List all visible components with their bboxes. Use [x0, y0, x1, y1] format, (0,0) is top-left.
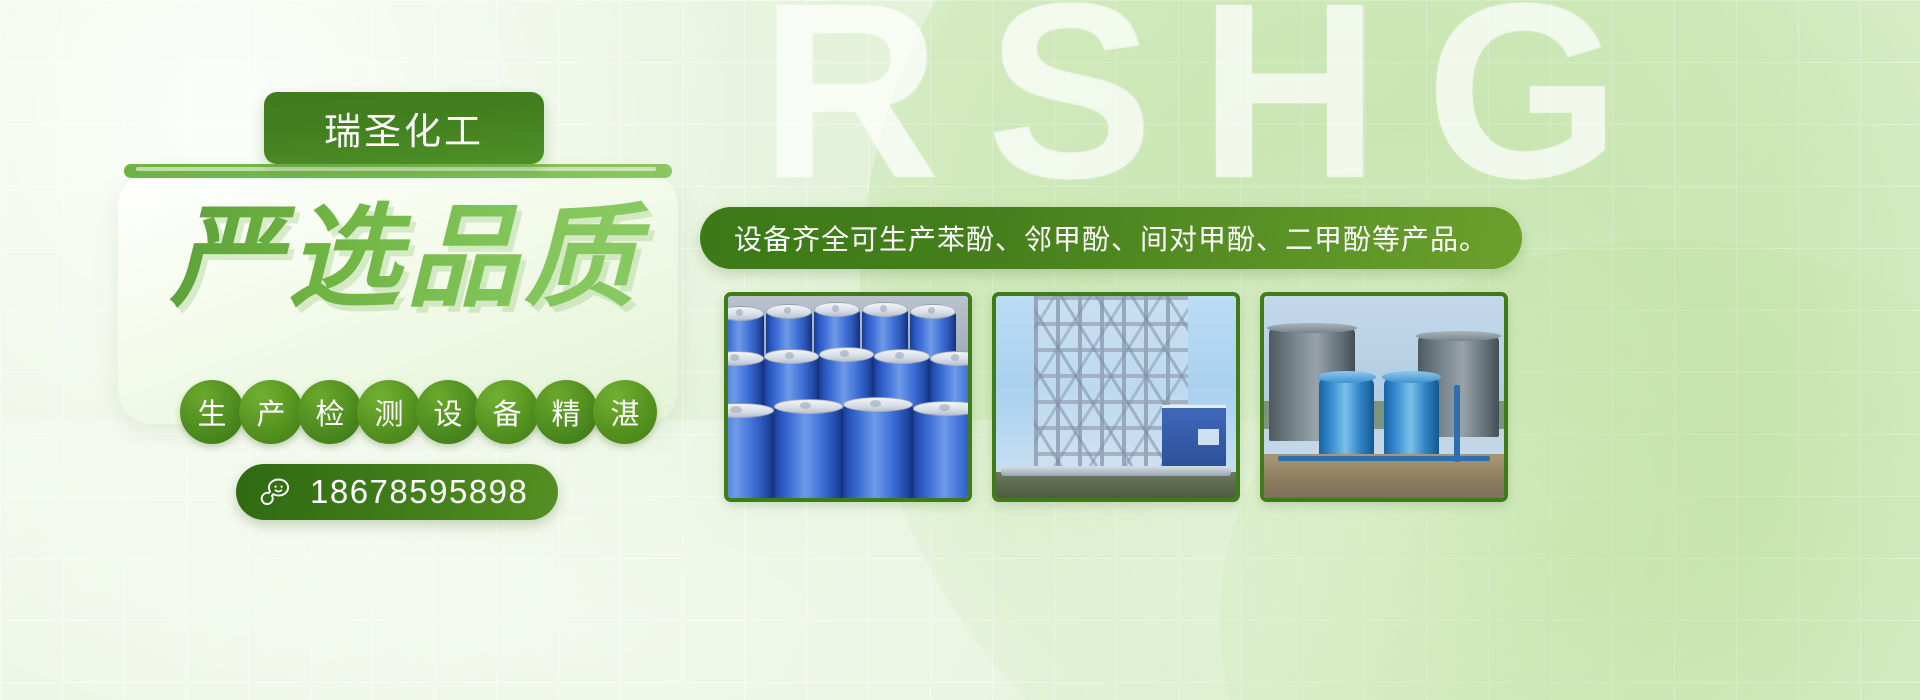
subtitle-char: 精 — [534, 380, 598, 444]
phone-number-label: 18678595898 — [310, 473, 528, 511]
drum-shape — [913, 407, 968, 498]
brand-name-label: 瑞圣化工 — [324, 101, 484, 155]
photo-content — [1264, 296, 1504, 498]
subtitle-char: 生 — [180, 380, 244, 444]
steel-production-tower-photo[interactable] — [992, 292, 1240, 502]
phone-contact-button[interactable]: 18678595898 — [236, 464, 558, 520]
headline-card-top-bar-shine — [136, 167, 656, 171]
storage-tanks-photo[interactable] — [1260, 292, 1508, 502]
subtitle-char: 产 — [239, 380, 303, 444]
left-content-block: 瑞圣化工 严选品质 生 产 检 测 设 备 精 湛 18678595898 — [118, 92, 696, 512]
headline-main-text: 严选品质 — [170, 200, 710, 316]
product-tagline-pill: 设备齐全可生产苯酚、邻甲酚、间对甲酚、二甲酚等产品。 — [700, 207, 1522, 269]
building-window — [1198, 429, 1220, 445]
drum-shape — [843, 403, 913, 498]
brand-watermark-text: RSHG — [760, 0, 1666, 216]
photo-content — [996, 296, 1236, 498]
headline-subtitle-circles: 生 产 检 测 设 备 精 湛 — [180, 380, 652, 444]
promo-banner: RSHG 瑞圣化工 严选品质 生 产 检 测 设 备 精 湛 186 — [0, 0, 1920, 700]
subtitle-char: 湛 — [593, 380, 657, 444]
product-photo-gallery — [724, 292, 1508, 502]
blue-storage-tank — [1384, 377, 1439, 462]
blue-storage-tank — [1319, 377, 1374, 462]
subtitle-char: 检 — [298, 380, 362, 444]
phone-smile-icon — [258, 476, 290, 508]
subtitle-char: 备 — [475, 380, 539, 444]
subtitle-char: 设 — [416, 380, 480, 444]
vertical-pipe — [1454, 385, 1460, 462]
drum-shape — [774, 405, 844, 498]
product-tagline-label: 设备齐全可生产苯酚、邻甲酚、间对甲酚、二甲酚等产品。 — [734, 218, 1488, 258]
drum-shape — [728, 409, 774, 498]
blue-chemical-drums-photo[interactable] — [724, 292, 972, 502]
horizontal-pipe — [1001, 466, 1231, 476]
subtitle-char: 测 — [357, 380, 421, 444]
brand-badge: 瑞圣化工 — [264, 92, 544, 164]
photo-content — [728, 296, 968, 498]
